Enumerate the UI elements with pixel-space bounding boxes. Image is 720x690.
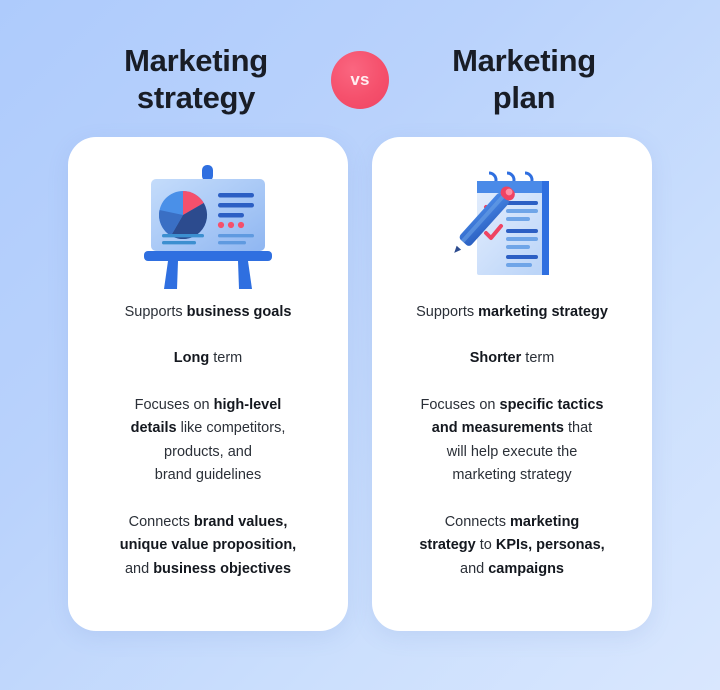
card-marketing-strategy: Supports business goals Long term Focuse… bbox=[68, 137, 348, 631]
card-text-line: Focuses on specific tacticsand measureme… bbox=[421, 394, 604, 488]
vs-badge-label: vs bbox=[350, 70, 369, 90]
card-text-line: Supports business goals bbox=[125, 301, 292, 324]
comparison-header: Marketing strategy vs Marketing plan bbox=[0, 40, 720, 120]
card-text-line: Connects marketingstrategy to KPIs, pers… bbox=[419, 511, 604, 581]
card-text-line: Focuses on high-leveldetails like compet… bbox=[131, 394, 286, 488]
card-text-line: Shorter term bbox=[470, 347, 555, 370]
card-body-marketing-strategy: Supports business goals Long term Focuse… bbox=[68, 301, 348, 581]
card-text-line: Connects brand values,unique value propo… bbox=[120, 511, 296, 581]
card-text-line: Long term bbox=[174, 347, 242, 370]
card-body-marketing-plan: Supports marketing strategy Shorter term… bbox=[372, 301, 652, 581]
comparison-cards: Supports business goals Long term Focuse… bbox=[68, 137, 652, 631]
right-column-title: Marketing plan bbox=[399, 43, 649, 116]
card-text-line: Supports marketing strategy bbox=[416, 301, 608, 324]
notepad-checklist-pen-icon bbox=[442, 163, 582, 293]
presentation-board-pie-chart-icon bbox=[138, 163, 278, 293]
vs-badge: vs bbox=[331, 51, 389, 109]
card-marketing-plan: Supports marketing strategy Shorter term… bbox=[372, 137, 652, 631]
left-column-title: Marketing strategy bbox=[71, 43, 321, 116]
